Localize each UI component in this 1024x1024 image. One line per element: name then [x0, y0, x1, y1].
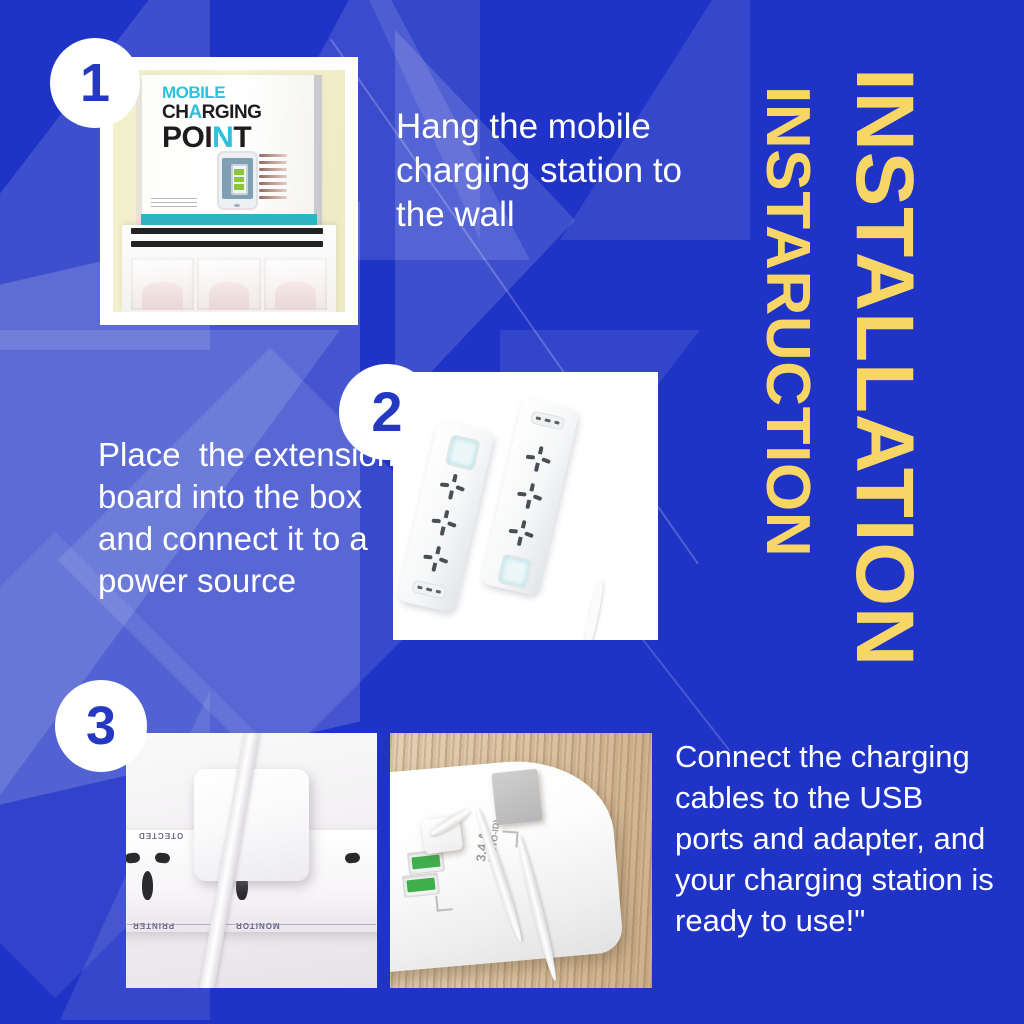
step-1-number-badge: 1	[50, 38, 140, 128]
photo1-board-edge-left	[136, 78, 141, 227]
step-2-text: Place the extension board into the box a…	[98, 434, 398, 602]
photo2-socket-pin-left	[432, 519, 442, 524]
photo1-cable-icon	[259, 161, 287, 165]
mobile-charging-station-photo: MOBILE CHARGING POINT	[113, 70, 345, 312]
infographic-poster: INSTALLATION INSTARUCTION MOBILE CHARGIN…	[0, 0, 1024, 1024]
photo2-socket	[511, 479, 549, 517]
photo3b-usb-connector	[491, 769, 542, 826]
photo2-usb-port	[417, 585, 423, 589]
photo2-socket	[434, 470, 472, 508]
photo2-socket-pin-top	[452, 474, 457, 483]
photo2-usb-port	[436, 590, 442, 594]
photo2-socket-pin-bottom	[517, 536, 523, 545]
photo1-phone-home-button	[234, 204, 240, 207]
photo2-socket-pin-left	[424, 555, 434, 560]
photo1-board-edge-right	[314, 75, 323, 227]
headline-instaruction: INSTARUCTION	[756, 86, 818, 557]
step-2-number: 2	[371, 384, 402, 440]
photo1-battery-cell	[234, 177, 243, 183]
photo1-cabinet-door	[131, 258, 194, 310]
photo2-socket-pin-bottom	[431, 563, 437, 572]
photo1-phone-graphic	[217, 151, 258, 210]
photo1-cabinet-door	[264, 258, 327, 310]
step-2-number-badge: 2	[339, 364, 435, 460]
photo1-cabinet-strip	[131, 228, 323, 234]
photo1-point-part-a: POI	[162, 121, 212, 154]
photo1-cable-icon	[259, 154, 287, 158]
photo2-usb-port-block	[411, 579, 448, 599]
headline-installation: INSTALLATION	[843, 68, 925, 667]
photo2-usb-port	[536, 416, 542, 420]
photo2-socket-pin-top	[444, 510, 449, 519]
photo2-power-switch	[496, 553, 533, 590]
photo3a-label-protected: OTECTED	[138, 831, 183, 840]
photo1-point-part-c: T	[233, 121, 251, 154]
photo3a-socket-pin-left	[344, 853, 360, 865]
photo2-socket-pin-top	[435, 546, 440, 555]
photo1-cabinet-strip	[131, 241, 323, 247]
step-3-number-badge: 3	[55, 680, 147, 772]
photo2-socket-pin-left	[440, 483, 450, 488]
photo1-cabinet-door	[197, 258, 260, 310]
photo2-socket-pin-right	[455, 485, 465, 492]
photo1-point-part-b: N	[212, 121, 233, 154]
usb-ports-closeup-photo: 3.4 A (AUTO-ID)	[390, 733, 652, 988]
photo3a-socket-pin-left	[126, 853, 140, 865]
photo2-socket-pin-left	[526, 455, 536, 460]
photo2-socket	[520, 442, 558, 480]
photo1-cable-icon	[259, 168, 287, 172]
photo3b-arrow-marker	[501, 830, 518, 847]
photo2-socket-pin-left	[509, 529, 519, 534]
photo2-socket-pin-top	[529, 483, 534, 492]
photo2-socket-pin-top	[538, 446, 543, 455]
photo1-phone-screen	[222, 158, 253, 199]
photo1-sign-line-mobile: MOBILE	[162, 85, 225, 101]
photo2-usb-port-block	[529, 410, 566, 431]
photo2-socket-pin-right	[524, 531, 534, 538]
photo1-fine-print	[151, 198, 197, 209]
step-3-number: 3	[86, 699, 116, 753]
photo2-socket-pin-bottom	[448, 490, 454, 499]
step-1-number: 1	[80, 56, 110, 110]
photo3a-label-rule	[127, 924, 376, 925]
step-1-text: Hang the mobile charging station to the …	[396, 105, 696, 237]
photo3a-socket	[126, 848, 170, 911]
photo2-socket-pin-right	[439, 557, 449, 564]
photo2-usb-port	[545, 418, 551, 422]
photo3a-socket-pin-right	[154, 853, 170, 865]
photo2-socket-pin-bottom	[440, 527, 446, 536]
step-3-text: Connect the charging cables to the USB p…	[675, 737, 995, 942]
photo1-battery-cell	[234, 184, 243, 190]
photo2-socket-pin-left	[518, 492, 528, 497]
photo2-socket-pin-right	[541, 457, 551, 464]
step-1-photo-frame: MOBILE CHARGING POINT	[100, 57, 358, 325]
photo1-cable-icon	[259, 182, 287, 186]
photo1-cable-icons	[259, 153, 287, 203]
photo1-cabinet-doors	[131, 258, 327, 310]
photo1-signboard: MOBILE CHARGING POINT	[141, 75, 317, 227]
photo2-socket	[503, 516, 541, 554]
photo2-socket-pin-bottom	[526, 499, 532, 508]
photo2-socket-pin-bottom	[534, 462, 540, 471]
photo3a-socket-pin-center	[142, 871, 153, 900]
photo3a-label-printer: PRINTER	[132, 921, 174, 930]
photo1-sign-line-point: POINT	[162, 124, 251, 152]
photo1-battery-cell	[234, 169, 243, 175]
photo2-usb-port	[554, 420, 560, 424]
photo1-battery-icon	[231, 164, 248, 195]
photo3a-white-adapter	[194, 769, 309, 881]
photo3b-arrow-marker	[435, 894, 453, 912]
photo2-power-switch	[444, 434, 481, 471]
photo2-socket-pin-top	[521, 520, 526, 529]
photo2-socket-pin-right	[447, 521, 457, 528]
photo3a-label-monitor: MONITOR	[235, 921, 280, 930]
photo3b-usb-port	[402, 872, 440, 898]
photo2-socket	[425, 506, 463, 544]
photo1-cable-icon	[259, 196, 287, 200]
photo3a-socket	[344, 848, 377, 911]
photo2-usb-port	[426, 587, 432, 591]
photo1-cable-icon	[259, 189, 287, 193]
photo1-cable-icon	[259, 175, 287, 179]
photo2-socket	[417, 542, 455, 580]
adapter-on-strip-photo: OTECTED PRINTER MONITOR	[126, 733, 377, 988]
photo2-socket-pin-right	[533, 494, 543, 501]
photo1-cabinet	[122, 225, 335, 312]
photo1-sign-line-charging: CHARGING	[162, 104, 261, 121]
